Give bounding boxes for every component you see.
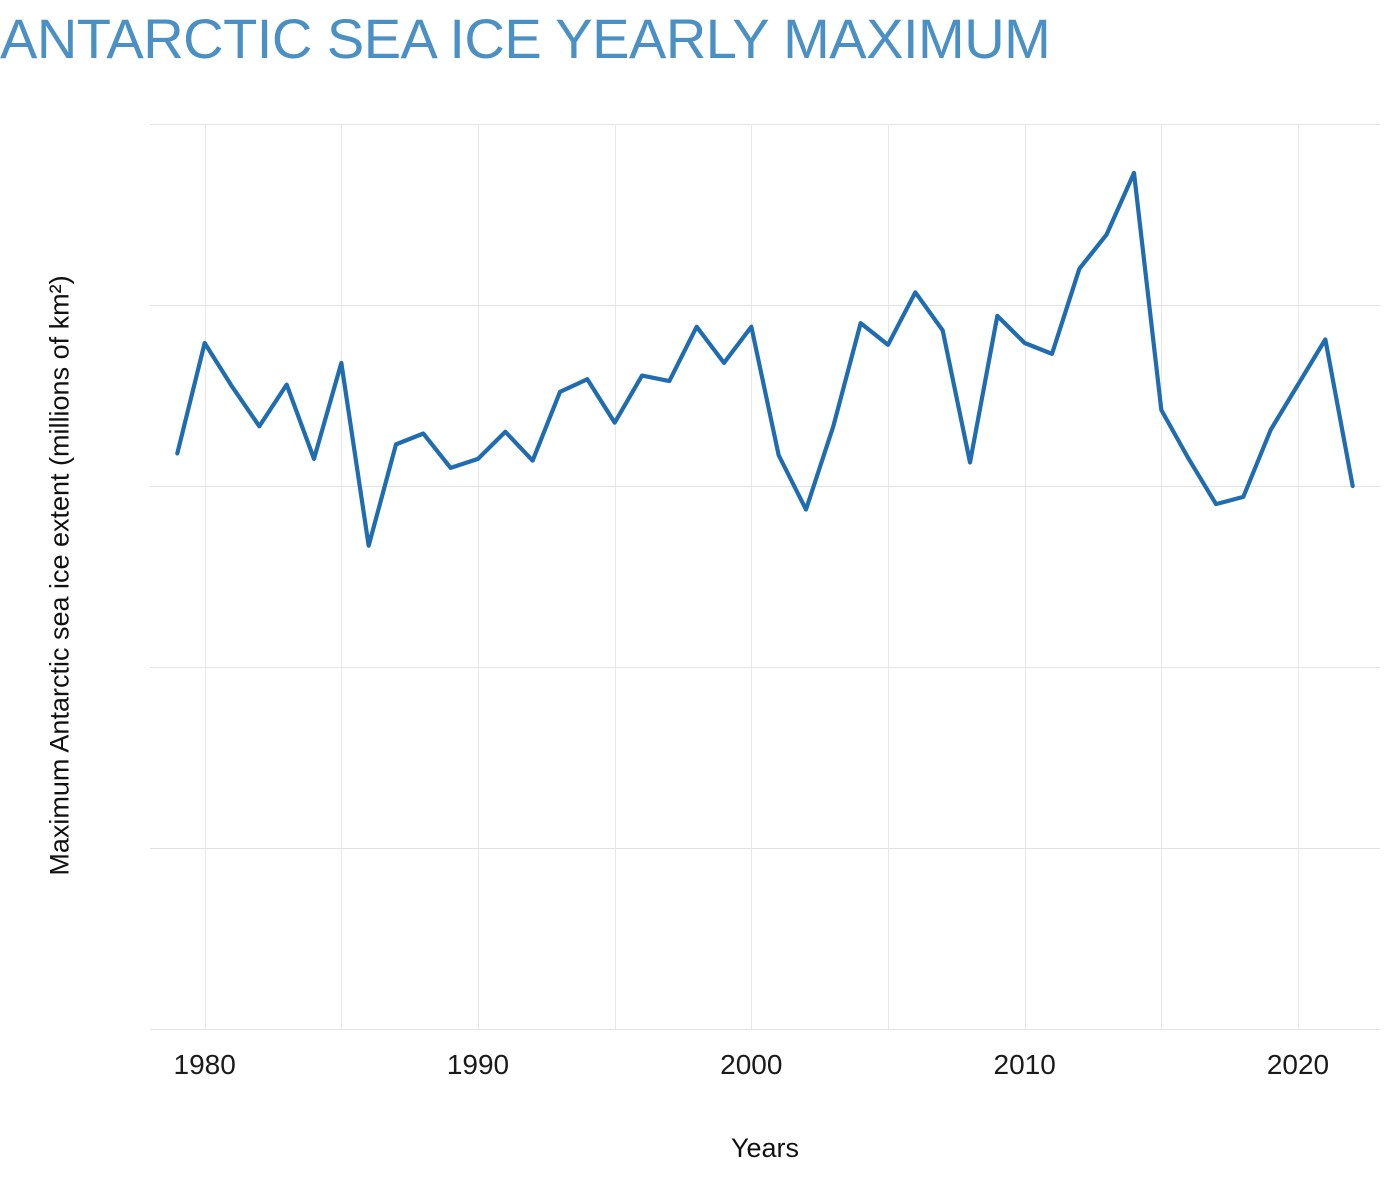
x-axis-title: Years	[150, 1133, 1380, 1164]
gridline-horizontal	[150, 1029, 1380, 1030]
x-tick-label: 2000	[691, 1049, 811, 1081]
x-tick-label: 2010	[965, 1049, 1085, 1081]
chart-container: ANTARCTIC SEA ICE YEARLY MAXIMUM Maximum…	[0, 0, 1400, 1200]
plot-area: 201918171615 19801990200020102020	[150, 124, 1380, 1029]
sea-ice-extent-line	[177, 173, 1352, 546]
x-tick-label: 2020	[1238, 1049, 1358, 1081]
x-tick-label: 1990	[418, 1049, 538, 1081]
series-line-chart	[150, 124, 1380, 1029]
y-axis-title: Maximum Antarctic sea ice extent (millio…	[45, 126, 76, 1026]
x-tick-label: 1980	[145, 1049, 265, 1081]
chart-title: ANTARCTIC SEA ICE YEARLY MAXIMUM	[0, 6, 1050, 71]
